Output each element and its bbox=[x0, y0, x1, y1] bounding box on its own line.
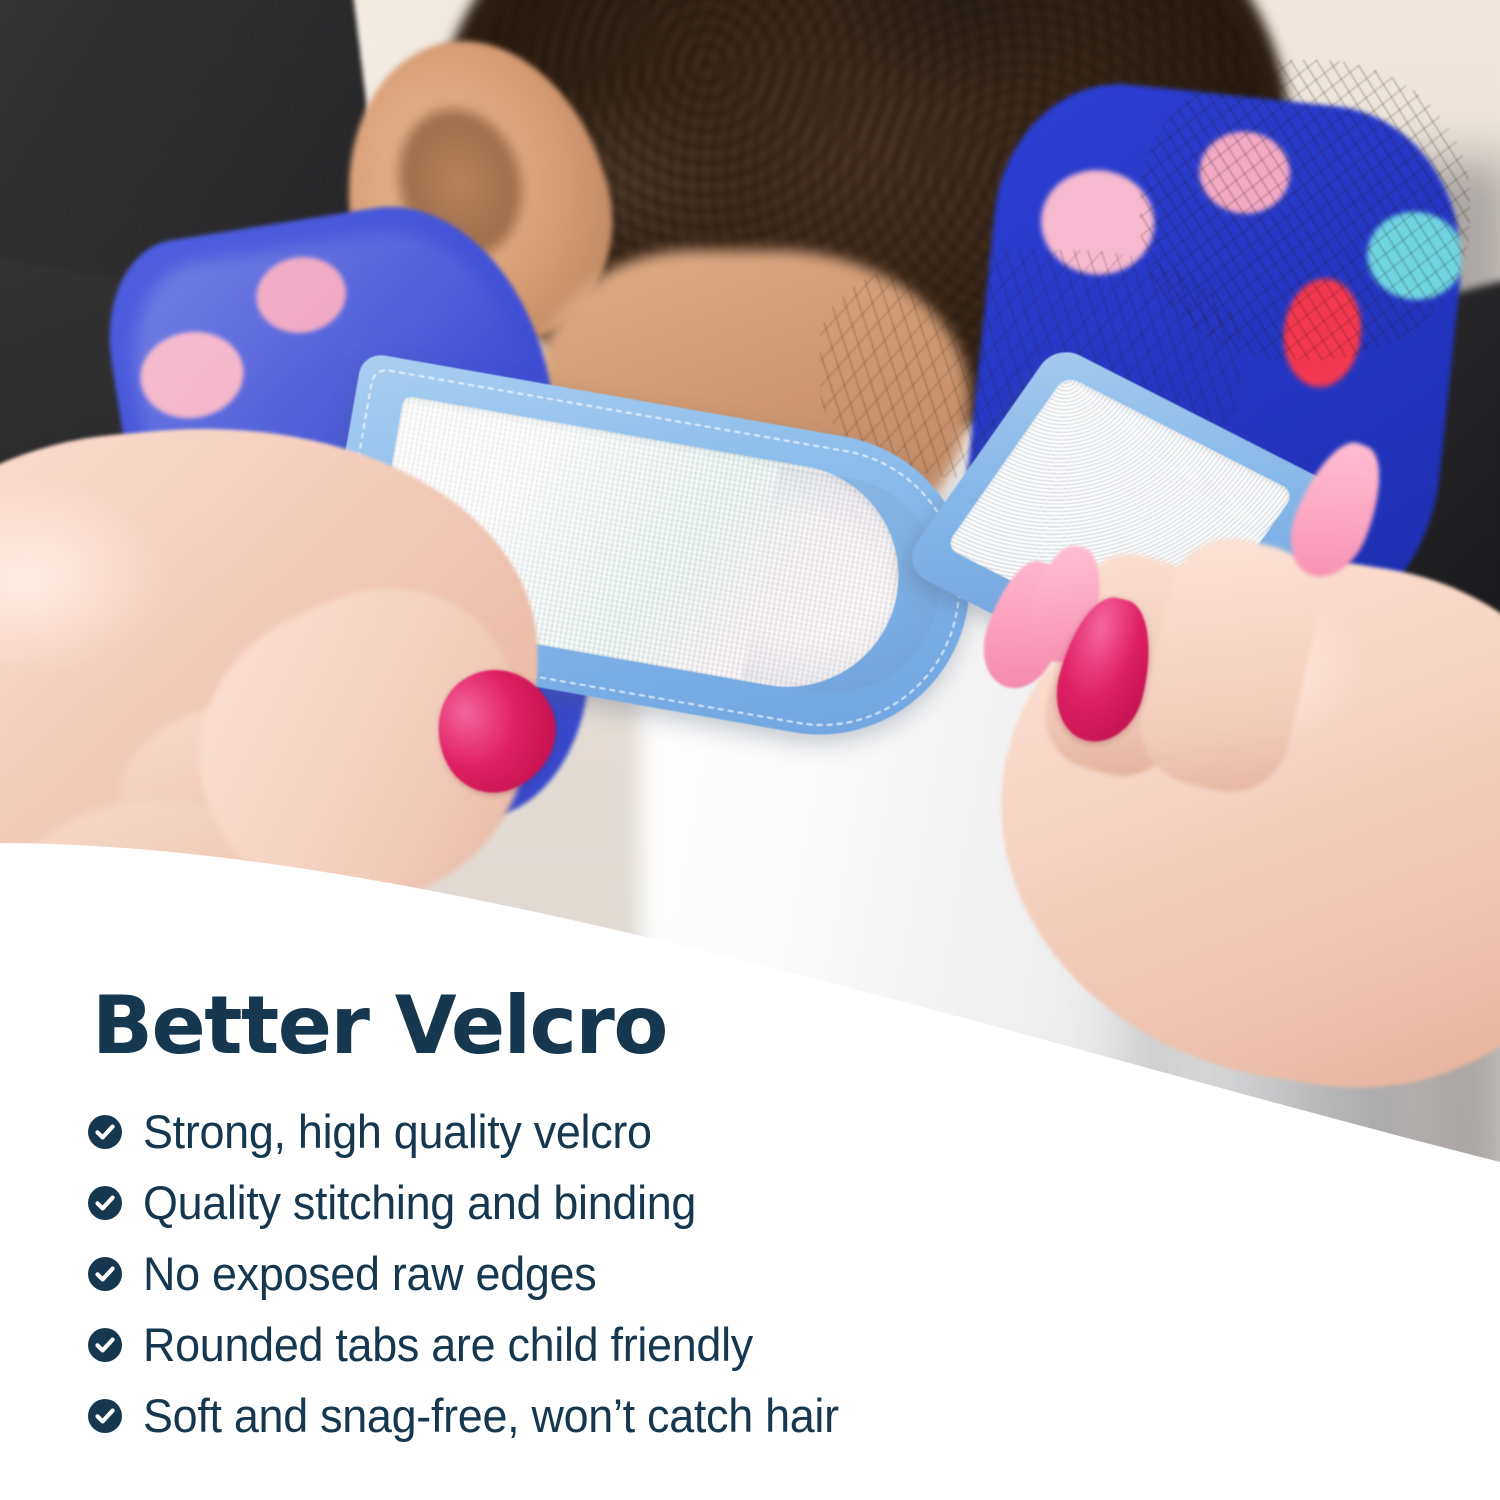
info-panel-content: Better Velcro Strong, high quality velcr… bbox=[0, 0, 1500, 1500]
list-item-label: Soft and snag-free, won’t catch hair bbox=[143, 1392, 839, 1439]
list-item-label: Quality stitching and binding bbox=[143, 1179, 696, 1226]
list-item-label: Rounded tabs are child friendly bbox=[143, 1321, 753, 1368]
list-item: No exposed raw edges bbox=[88, 1238, 1288, 1309]
check-circle-icon bbox=[88, 1186, 122, 1220]
list-item-label: Strong, high quality velcro bbox=[143, 1108, 652, 1155]
check-circle-icon bbox=[88, 1399, 122, 1433]
list-item: Soft and snag-free, won’t catch hair bbox=[88, 1380, 1288, 1451]
product-feature-graphic: Better Velcro Strong, high quality velcr… bbox=[0, 0, 1500, 1500]
list-item: Strong, high quality velcro bbox=[88, 1096, 1288, 1167]
feature-list: Strong, high quality velcro Quality stit… bbox=[88, 1096, 1288, 1451]
check-circle-icon bbox=[88, 1115, 122, 1149]
check-circle-icon bbox=[88, 1328, 122, 1362]
page-title: Better Velcro bbox=[92, 986, 667, 1066]
check-circle-icon bbox=[88, 1257, 122, 1291]
list-item: Rounded tabs are child friendly bbox=[88, 1309, 1288, 1380]
list-item-label: No exposed raw edges bbox=[143, 1250, 596, 1297]
list-item: Quality stitching and binding bbox=[88, 1167, 1288, 1238]
